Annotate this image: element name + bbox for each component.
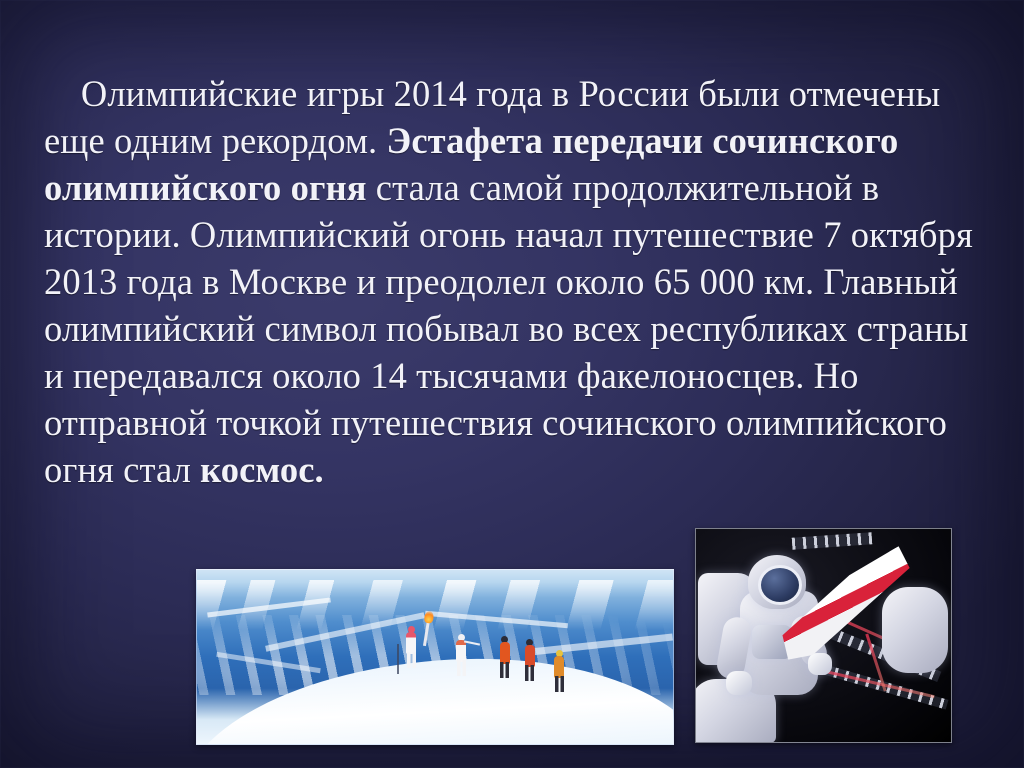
slide-body-text: Олимпийские игры 2014 года в России были… <box>44 23 978 540</box>
cosmonaut-glove-right <box>808 653 832 675</box>
cosmonaut-visor <box>758 565 802 605</box>
ice-axe <box>397 644 399 674</box>
climber-legs <box>457 660 466 676</box>
presentation-slide: Олимпийские игры 2014 года в России были… <box>0 0 1024 768</box>
climber-4 <box>522 639 537 679</box>
climber-2-torchbearer <box>453 634 469 678</box>
station-module-right <box>882 587 948 673</box>
climber-body <box>525 645 535 667</box>
climber-body <box>406 632 416 654</box>
climber-3 <box>497 636 512 678</box>
climber-5 <box>552 650 566 686</box>
text-segment-3: стала самой продолжительной в истории. О… <box>44 167 982 490</box>
climber-legs <box>555 676 564 692</box>
photo-mountain-torchbearers <box>196 569 674 745</box>
photo-space-eva-torch <box>695 528 952 743</box>
climber-legs <box>525 665 534 681</box>
climber-1-torchbearer <box>403 626 419 672</box>
climber-legs <box>500 662 509 678</box>
climber-legs <box>407 652 416 668</box>
climber-body <box>554 656 564 678</box>
climber-body <box>500 642 510 664</box>
text-segment-4-bold: космос. <box>200 449 324 490</box>
climber-body <box>456 640 466 662</box>
cosmonaut-glove-left <box>726 671 752 695</box>
